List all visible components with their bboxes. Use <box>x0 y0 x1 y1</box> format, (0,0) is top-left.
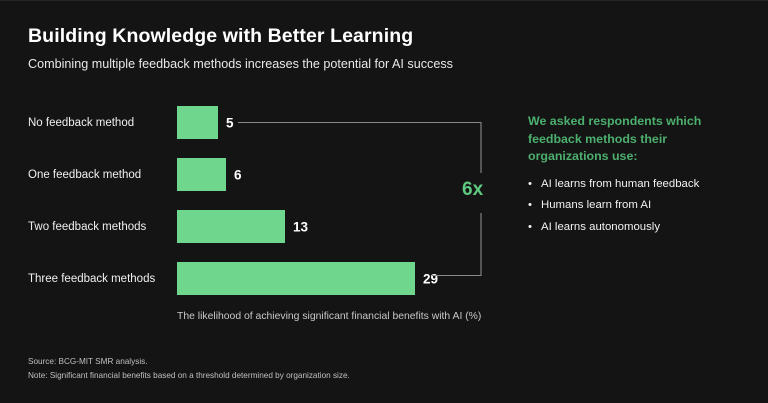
chart-row: One feedback method 6 <box>0 158 520 191</box>
category-label: One feedback method <box>28 169 141 181</box>
bar-value-label: 13 <box>293 219 308 234</box>
list-item: • AI learns autonomously <box>528 222 746 233</box>
side-panel: We asked respondents which feedback meth… <box>528 113 746 243</box>
multiplier-label: 6x <box>462 179 483 201</box>
bar <box>177 210 285 243</box>
bar <box>177 262 415 295</box>
bar-chart: No feedback method 5 One feedback method… <box>0 97 520 297</box>
note-line: Note: Significant financial benefits bas… <box>28 369 628 383</box>
bar-value-label: 29 <box>423 271 438 286</box>
bullet-icon: • <box>528 200 532 211</box>
source-line: Source: BCG-MIT SMR analysis. <box>28 355 628 369</box>
list-item: • Humans learn from AI <box>528 200 746 211</box>
bar <box>177 158 226 191</box>
category-label: No feedback method <box>28 117 134 129</box>
footer: Source: BCG-MIT SMR analysis. Note: Sign… <box>28 355 628 382</box>
list-item-label: Humans learn from AI <box>541 199 651 211</box>
panel-heading: We asked respondents which feedback meth… <box>528 113 746 166</box>
page-title: Building Knowledge with Better Learning <box>28 25 413 48</box>
bar-container: 13 <box>177 210 285 243</box>
bar-value-label: 5 <box>226 115 234 130</box>
infographic-canvas: Building Knowledge with Better Learning … <box>0 0 768 403</box>
bar-value-label: 6 <box>234 167 242 182</box>
chart-row: No feedback method 5 <box>0 106 520 139</box>
list-item-label: AI learns from human feedback <box>541 178 699 190</box>
bullet-icon: • <box>528 222 532 233</box>
chart-row: Two feedback methods 13 <box>0 210 520 243</box>
list-item: • AI learns from human feedback <box>528 179 746 190</box>
bar-container: 29 <box>177 262 415 295</box>
bullet-icon: • <box>528 179 532 190</box>
bar <box>177 106 218 139</box>
page-subtitle: Combining multiple feedback methods incr… <box>28 57 453 71</box>
list-item-label: AI learns autonomously <box>541 221 660 233</box>
category-label: Two feedback methods <box>28 221 146 233</box>
category-label: Three feedback methods <box>28 273 155 285</box>
bar-container: 5 <box>177 106 218 139</box>
chart-row: Three feedback methods 29 <box>0 262 520 295</box>
axis-caption: The likelihood of achieving significant … <box>177 311 467 322</box>
bar-container: 6 <box>177 158 226 191</box>
